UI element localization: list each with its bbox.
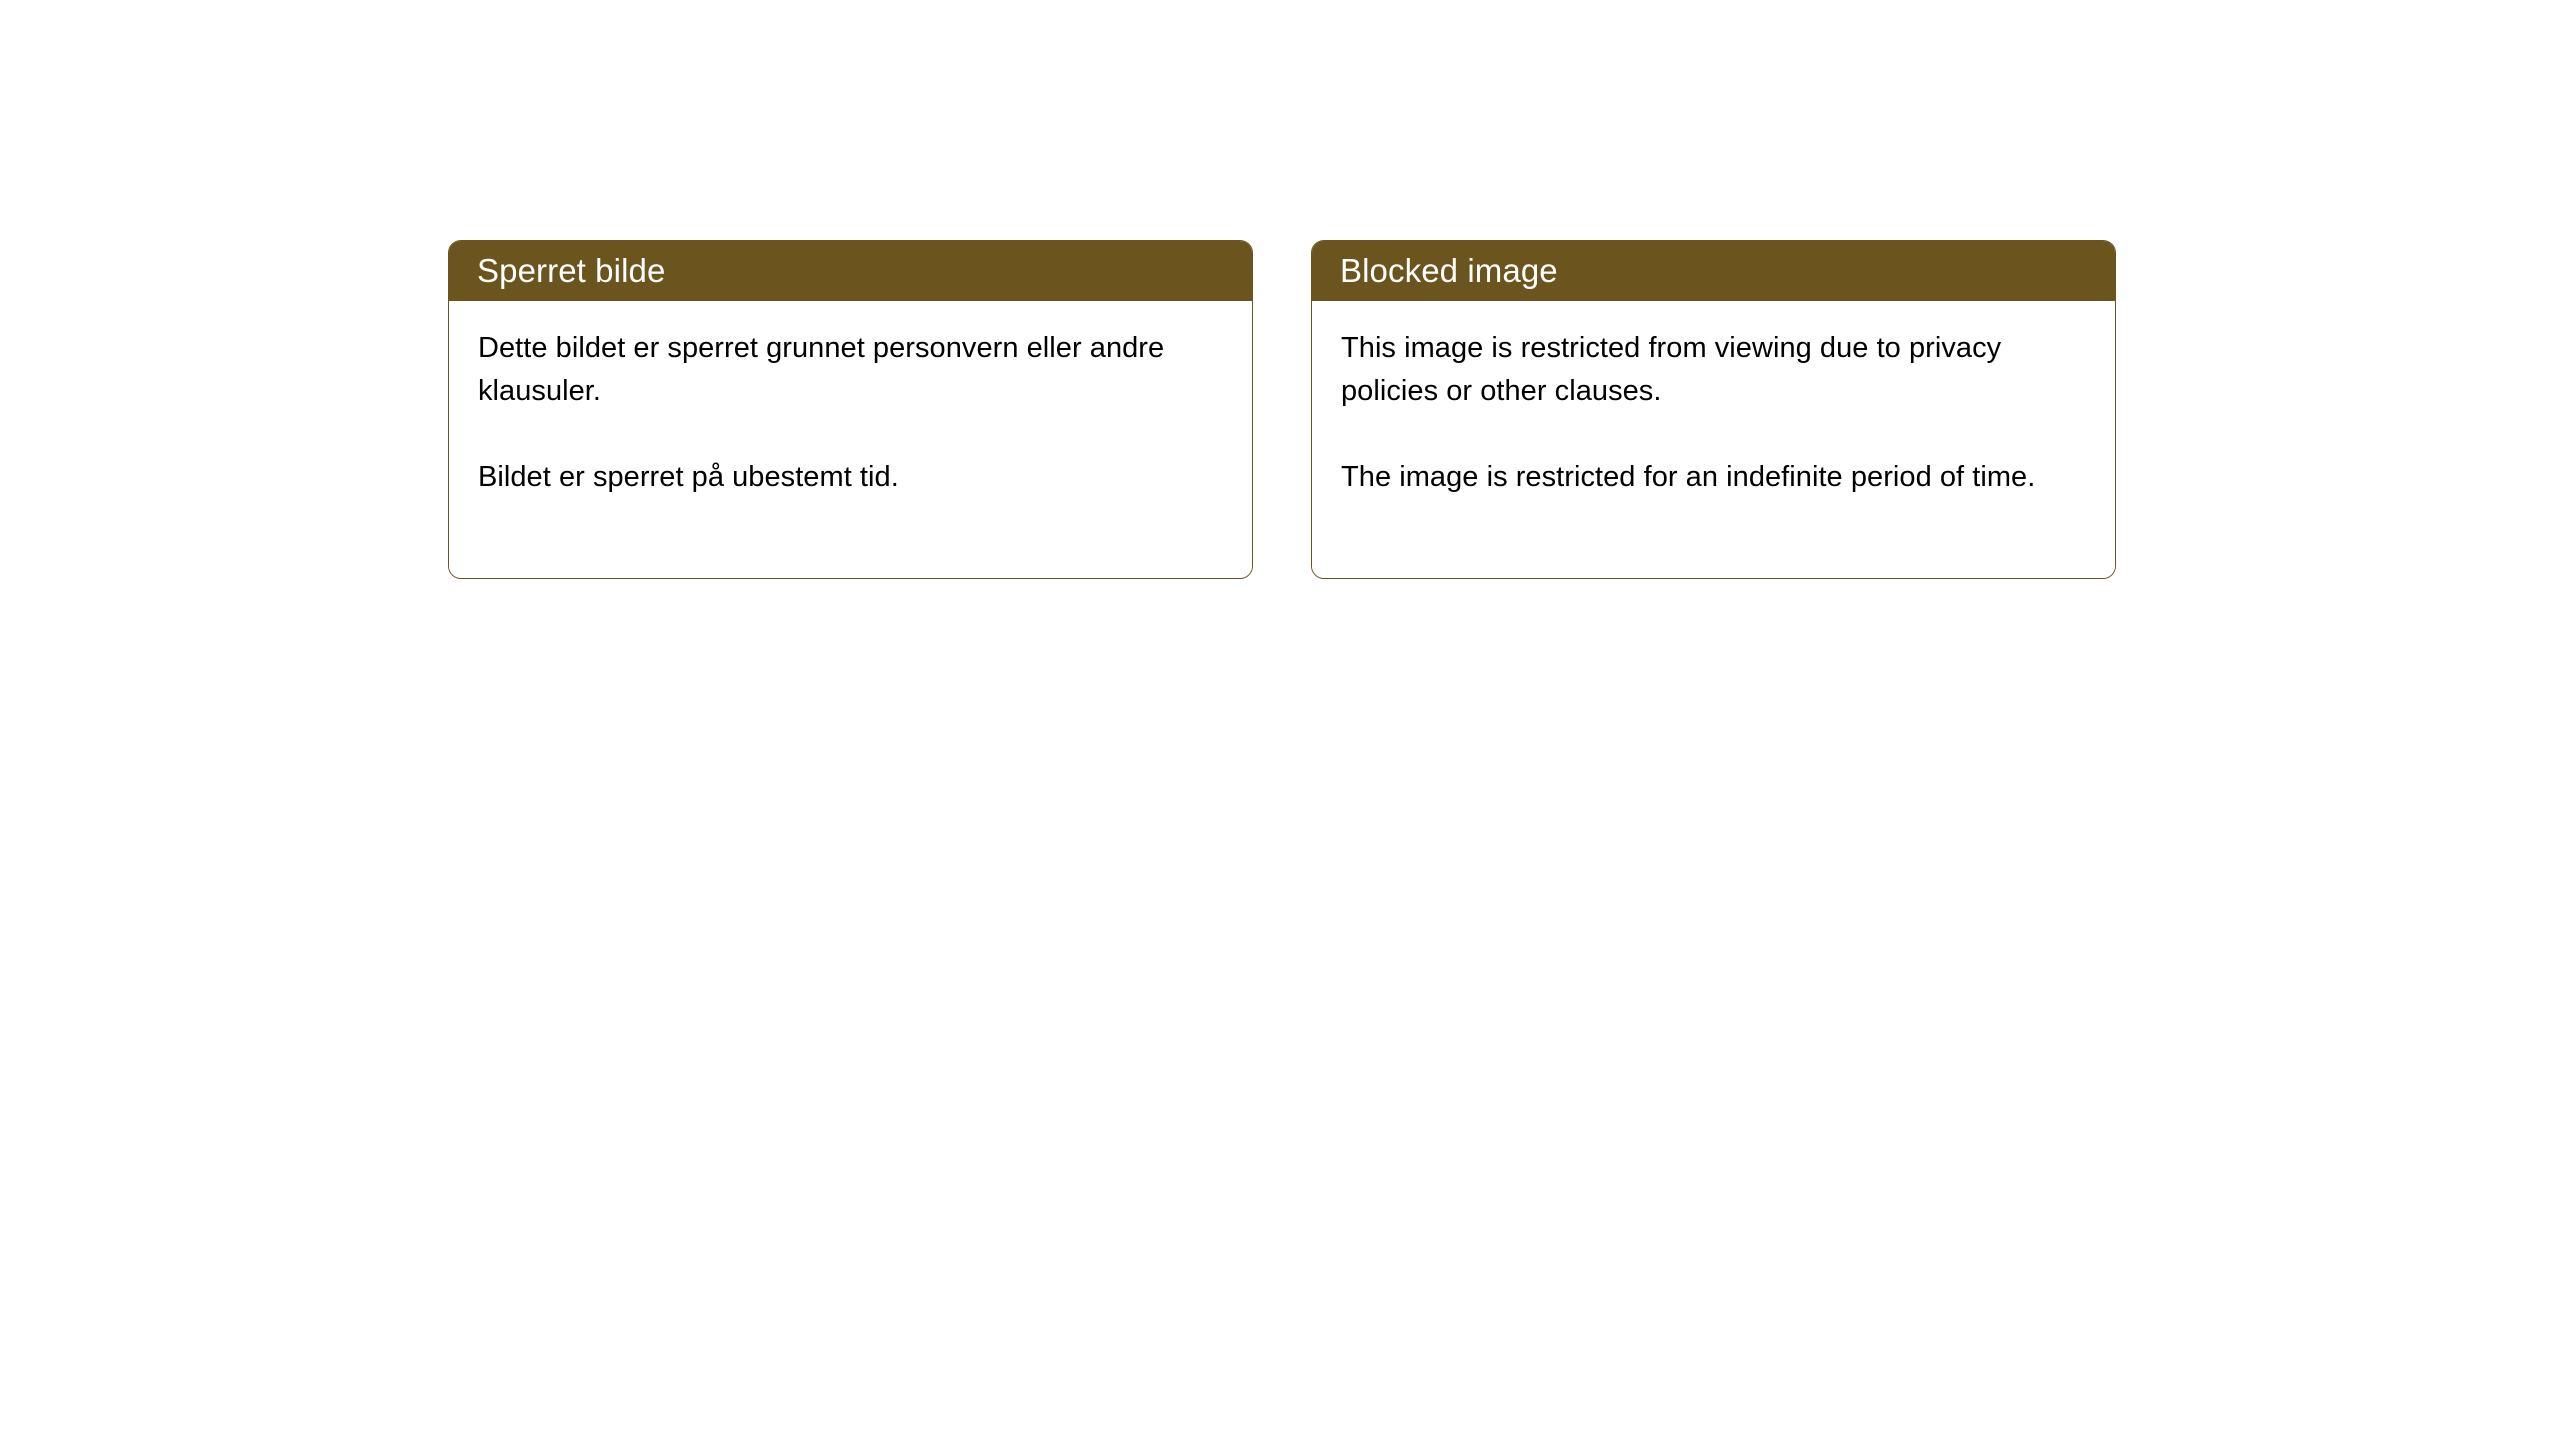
card-paragraph: Dette bildet er sperret grunnet personve… [478, 327, 1228, 413]
card-body-norwegian: Dette bildet er sperret grunnet personve… [449, 301, 1252, 578]
card-body-english: This image is restricted from viewing du… [1312, 301, 2115, 578]
card-header-english: Blocked image [1312, 241, 2115, 301]
card-header-norwegian: Sperret bilde [449, 241, 1252, 301]
card-paragraph: Bildet er sperret på ubestemt tid. [478, 456, 1228, 499]
blocked-image-card-english: Blocked image This image is restricted f… [1311, 240, 2116, 579]
card-title-norwegian: Sperret bilde [477, 253, 665, 289]
blocked-image-notices: Sperret bilde Dette bildet er sperret gr… [448, 240, 2116, 579]
card-paragraph: The image is restricted for an indefinit… [1341, 456, 2091, 499]
card-title-english: Blocked image [1340, 253, 1558, 289]
card-paragraph: This image is restricted from viewing du… [1341, 327, 2091, 413]
blocked-image-card-norwegian: Sperret bilde Dette bildet er sperret gr… [448, 240, 1253, 579]
